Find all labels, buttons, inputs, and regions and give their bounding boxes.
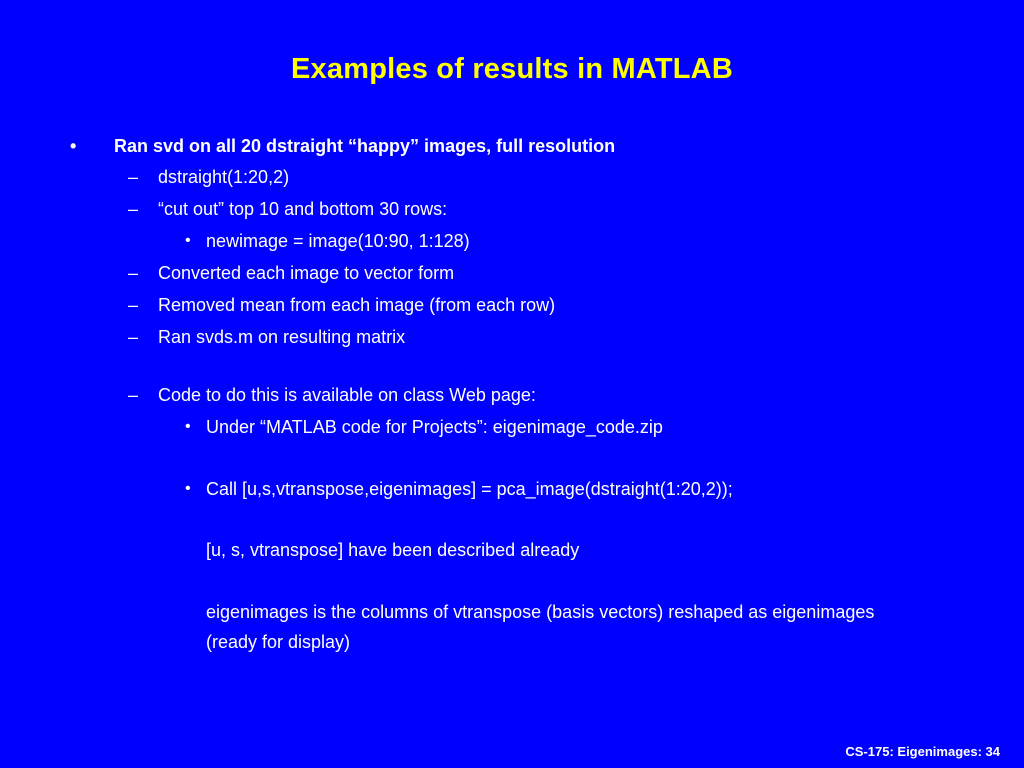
- paragraph-text: [u, s, vtranspose] have been described a…: [206, 540, 579, 560]
- bullet-dot-icon: •: [185, 411, 191, 443]
- bullet-level2-item: – Removed mean from each image (from eac…: [0, 289, 1024, 321]
- bullet-dash-icon: –: [128, 379, 138, 411]
- bullet-text: Ran svds.m on resulting matrix: [158, 327, 405, 347]
- bullet-dash-icon: –: [128, 289, 138, 321]
- bullet-text: Removed mean from each image (from each …: [158, 295, 555, 315]
- bullet-text: Converted each image to vector form: [158, 263, 454, 283]
- vertical-spacer: [0, 353, 1024, 379]
- bullet-level3-item: • newimage = image(10:90, 1:128): [0, 225, 1024, 257]
- bullet-level3-item: • Call [u,s,vtranspose,eigenimages] = pc…: [0, 473, 1024, 505]
- bullet-dot-icon: •: [185, 473, 191, 505]
- page-title: Examples of results in MATLAB: [0, 52, 1024, 86]
- slide-body: • Ran svd on all 20 dstraight “happy” im…: [0, 131, 1024, 657]
- slide-canvas: Examples of results in MATLAB • Ran svd …: [0, 0, 1024, 768]
- bullet-dash-icon: –: [128, 257, 138, 289]
- bullet-level1-item: • Ran svd on all 20 dstraight “happy” im…: [0, 131, 1024, 161]
- bullet-dot-icon: •: [185, 225, 191, 257]
- slide-footer: CS-175: Eigenimages: 34: [845, 744, 1000, 760]
- bullet-text: newimage = image(10:90, 1:128): [206, 231, 470, 251]
- bullet-level2-item: – “cut out” top 10 and bottom 30 rows:: [0, 193, 1024, 225]
- bullet-dash-icon: –: [128, 161, 138, 193]
- bullet-text: dstraight(1:20,2): [158, 167, 289, 187]
- bullet-text: Code to do this is available on class We…: [158, 385, 536, 405]
- bullet-level2-item: – Ran svds.m on resulting matrix: [0, 321, 1024, 353]
- vertical-spacer: [0, 443, 1024, 473]
- bullet-text: Ran svd on all 20 dstraight “happy” imag…: [114, 136, 615, 156]
- body-paragraph: eigenimages is the columns of vtranspose…: [0, 597, 1024, 657]
- bullet-level2-item: – dstraight(1:20,2): [0, 161, 1024, 193]
- paragraph-text: eigenimages is the columns of vtranspose…: [206, 602, 874, 652]
- bullet-dash-icon: –: [128, 321, 138, 353]
- vertical-spacer: [0, 567, 1024, 597]
- bullet-text: “cut out” top 10 and bottom 30 rows:: [158, 199, 447, 219]
- bullet-level2-item: – Converted each image to vector form: [0, 257, 1024, 289]
- bullet-dash-icon: –: [128, 193, 138, 225]
- bullet-text: Call [u,s,vtranspose,eigenimages] = pca_…: [206, 479, 733, 499]
- bullet-level3-item: • Under “MATLAB code for Projects”: eige…: [0, 411, 1024, 443]
- bullet-dot-icon: •: [70, 131, 76, 161]
- vertical-spacer: [0, 505, 1024, 535]
- bullet-text: Under “MATLAB code for Projects”: eigeni…: [206, 417, 663, 437]
- body-paragraph: [u, s, vtranspose] have been described a…: [0, 535, 1024, 567]
- bullet-level2-item: – Code to do this is available on class …: [0, 379, 1024, 411]
